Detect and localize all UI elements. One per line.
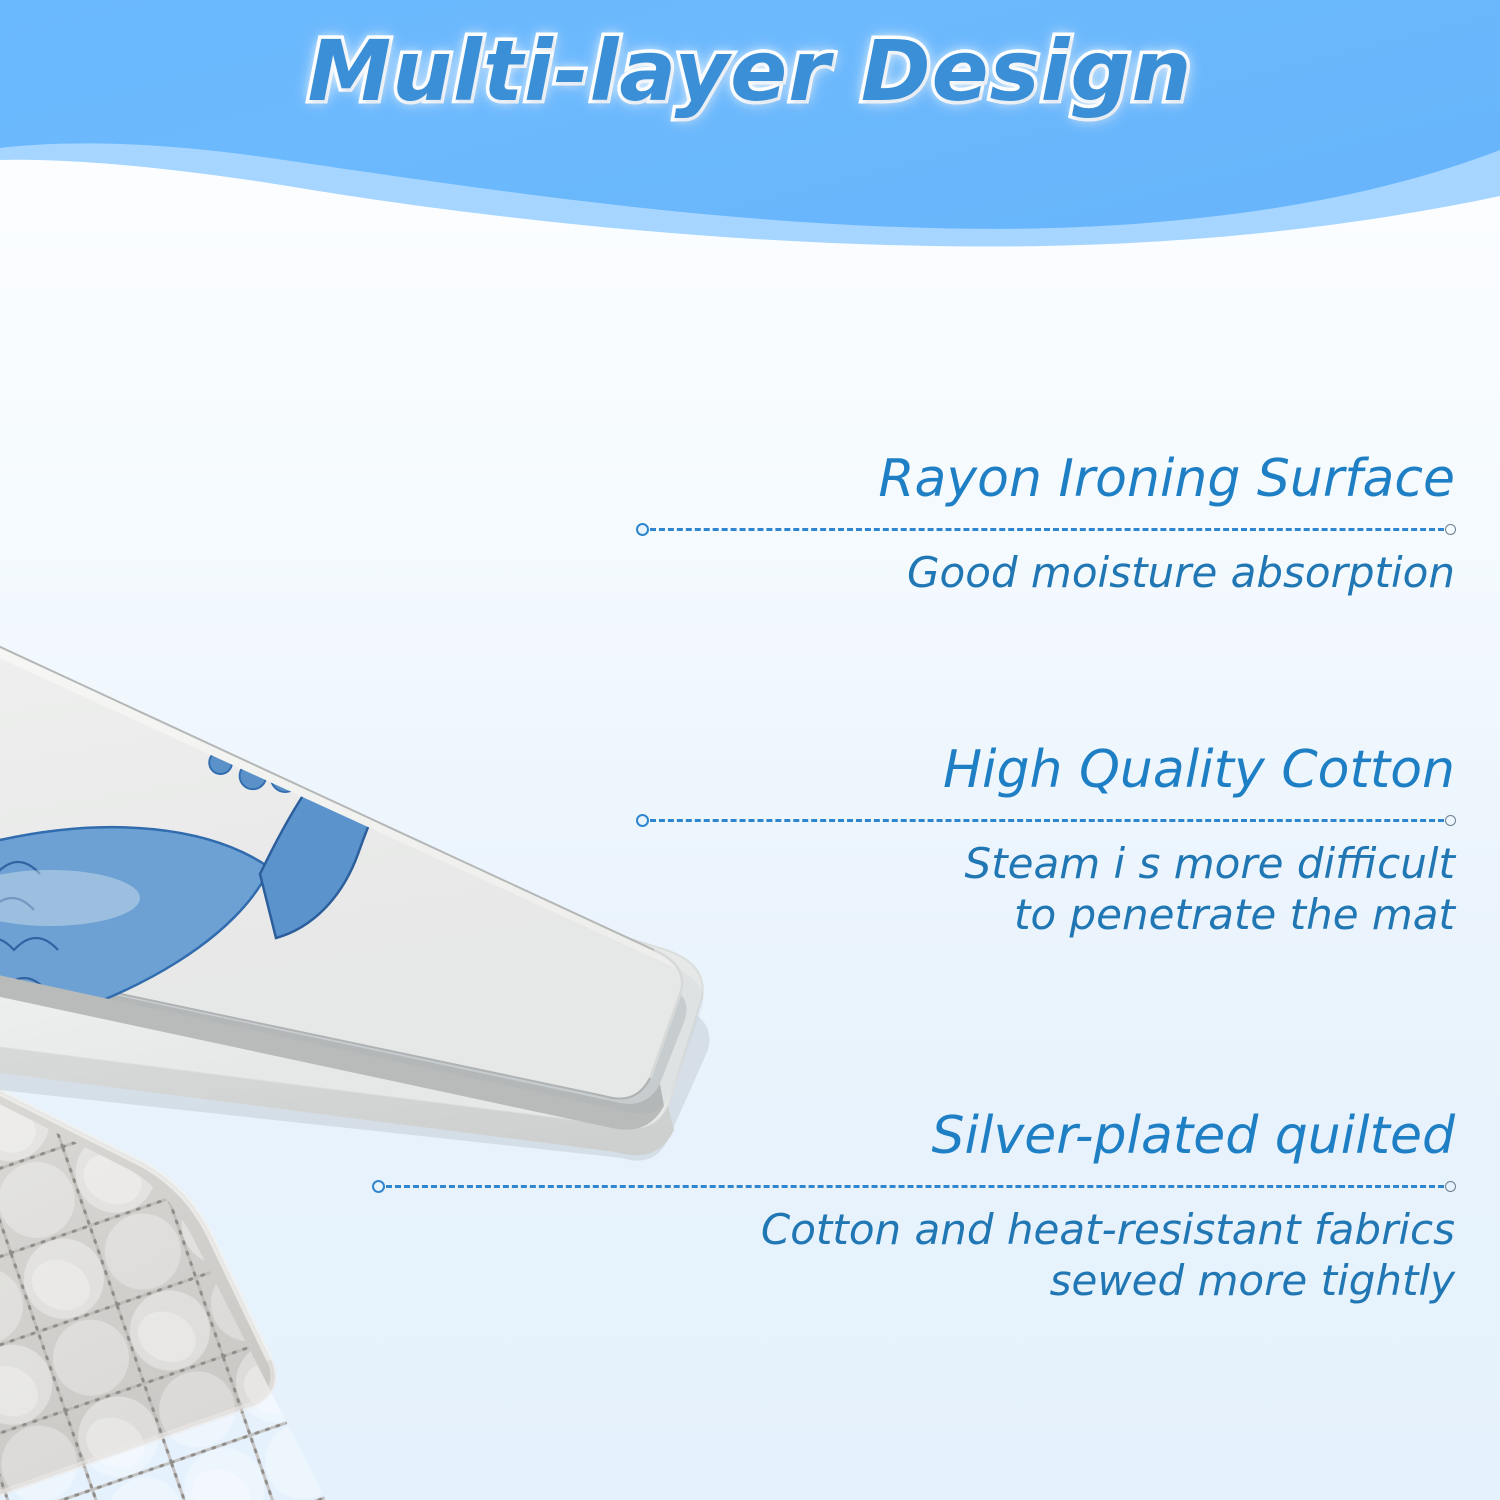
feature-heading-cotton: High Quality Cotton [755, 743, 1455, 798]
feature-sub-rayon: Good moisture absorption [755, 547, 1455, 598]
feature-heading-quilted: Silver-plated quilted [755, 1109, 1455, 1164]
feature-subtext-line: Good moisture absorption [755, 547, 1455, 598]
connector-end-circle [1445, 1181, 1456, 1192]
feature-block-rayon: Rayon Ironing Surface [755, 452, 1455, 507]
connector-dash [386, 1185, 1444, 1188]
feature-subtext-quilted: Cotton and heat-resistant fabrics sewed … [755, 1204, 1455, 1306]
connector-start-dot [636, 814, 649, 827]
header-wave-main [0, 0, 1500, 229]
feature-block-quilted: Silver-plated quilted [755, 1109, 1455, 1164]
connector-start-dot [636, 523, 649, 536]
connector-dash [650, 528, 1444, 531]
product-layer-stack [0, 250, 850, 1500]
feature-subtext-line: to penetrate the mat [755, 889, 1455, 940]
connector-start-dot [372, 1180, 385, 1193]
infographic-canvas: Rayon Ironing Surface Good moisture abso… [0, 0, 1500, 1500]
feature-subtext-line: sewed more tightly [755, 1255, 1455, 1306]
feature-sub-cotton: Steam i s more difficult to penetrate th… [755, 838, 1455, 940]
connector-end-circle [1445, 815, 1456, 826]
feature-heading-rayon: Rayon Ironing Surface [755, 452, 1455, 507]
connector-dash [650, 819, 1444, 822]
feature-subtext-line: Cotton and heat-resistant fabrics [755, 1204, 1455, 1255]
feature-sub-quilted: Cotton and heat-resistant fabrics sewed … [755, 1204, 1455, 1306]
feature-block-cotton: High Quality Cotton [755, 743, 1455, 798]
feature-subtext-line: Steam i s more difficult [755, 838, 1455, 889]
feature-subtext-rayon: Good moisture absorption [755, 547, 1455, 598]
connector-line-2 [636, 813, 1456, 827]
header-banner [0, 0, 1500, 260]
feature-subtext-cotton: Steam i s more difficult to penetrate th… [755, 838, 1455, 940]
connector-end-circle [1445, 524, 1456, 535]
connector-line-3 [372, 1179, 1456, 1193]
connector-line-1 [636, 522, 1456, 536]
